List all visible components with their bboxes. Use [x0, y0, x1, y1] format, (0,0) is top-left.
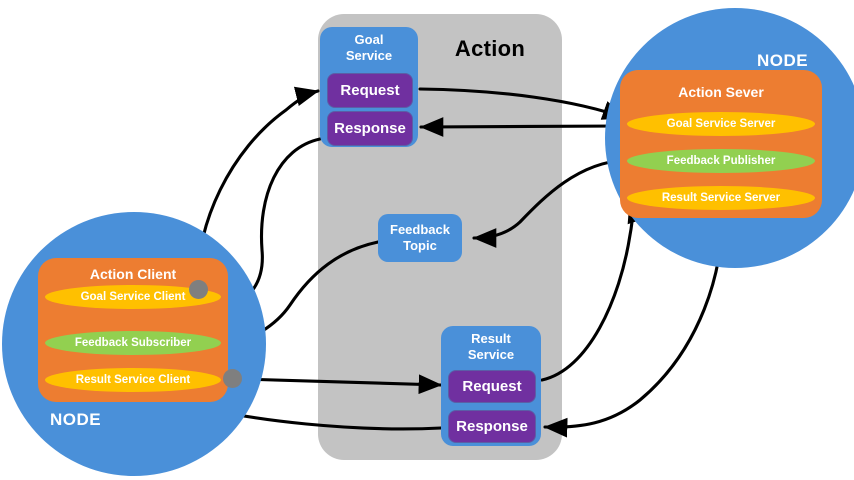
feedback-topic-line1: Feedback — [390, 222, 450, 237]
client-node-label: NODE — [50, 410, 101, 430]
pill-result-service-client[interactable]: Result Service Client — [45, 368, 221, 392]
pill-feedback-publisher[interactable]: Feedback Publisher — [627, 149, 815, 173]
goal-service-response[interactable]: Response — [327, 111, 413, 146]
action-group-title: Action — [430, 36, 550, 62]
goal-service-request[interactable]: Request — [327, 73, 413, 108]
feedback-topic-line2: Topic — [403, 238, 437, 253]
feedback-topic-box[interactable]: Feedback Topic — [378, 214, 462, 262]
result-service-title: Result Service — [441, 331, 541, 363]
connector-dot-result-client — [223, 369, 242, 388]
pill-goal-service-server[interactable]: Goal Service Server — [627, 112, 815, 136]
result-service-title-line1: Result — [471, 331, 511, 346]
connector-dot-goal-client — [189, 280, 208, 299]
pill-feedback-subscriber[interactable]: Feedback Subscriber — [45, 331, 221, 355]
goal-service-title-line2: Service — [346, 48, 392, 63]
action-server-title: Action Sever — [620, 84, 822, 100]
server-node-label: NODE — [757, 51, 808, 71]
goal-service-title-line1: Goal — [355, 32, 384, 47]
result-service-request[interactable]: Request — [448, 370, 536, 403]
result-service-response[interactable]: Response — [448, 410, 536, 443]
diagram-canvas: Action — [0, 0, 854, 480]
result-service-title-line2: Service — [468, 347, 514, 362]
goal-service-title: Goal Service — [320, 32, 418, 64]
pill-result-service-server[interactable]: Result Service Server — [627, 186, 815, 210]
